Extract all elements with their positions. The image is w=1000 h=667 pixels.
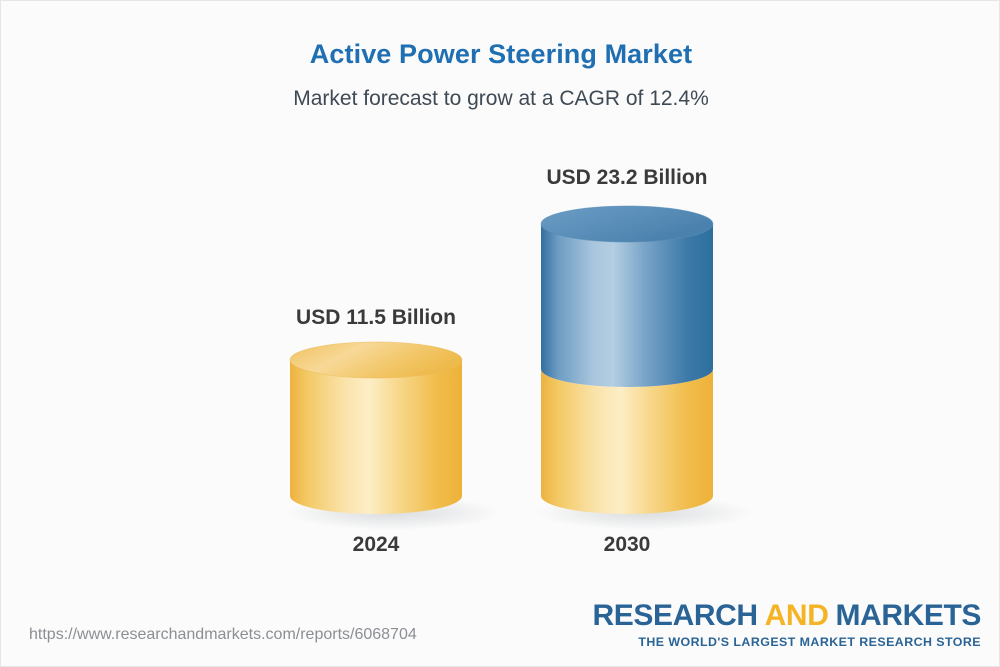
logo-word-markets: MARKETS xyxy=(835,599,981,632)
bar-cylinder-2024[interactable] xyxy=(290,342,462,514)
bar-body-2030-upper xyxy=(541,224,713,387)
value-label-2030: USD 23.2 Billion xyxy=(527,166,727,190)
category-label-2030: 2030 xyxy=(547,533,707,557)
logo-tagline: THE WORLD'S LARGEST MARKET RESEARCH STOR… xyxy=(593,636,981,648)
logo-word-research: RESEARCH xyxy=(593,599,758,632)
chart-canvas: Active Power Steering Market Market fore… xyxy=(0,0,1000,667)
bar-cylinder-2030[interactable] xyxy=(541,206,713,514)
report-url[interactable]: https://www.researchandmarkets.com/repor… xyxy=(29,626,417,644)
logo-wordmark: RESEARCHANDMARKETS xyxy=(593,601,981,631)
logo-word-and: AND xyxy=(765,599,829,632)
bar-body-2024 xyxy=(290,360,462,514)
category-label-2024: 2024 xyxy=(296,533,456,557)
research-and-markets-logo[interactable]: RESEARCHANDMARKETS THE WORLD'S LARGEST M… xyxy=(593,601,981,648)
value-label-2024: USD 11.5 Billion xyxy=(276,306,476,330)
cylinder-bar-chart xyxy=(1,1,1000,667)
bar-body-2030-lower xyxy=(541,369,713,514)
